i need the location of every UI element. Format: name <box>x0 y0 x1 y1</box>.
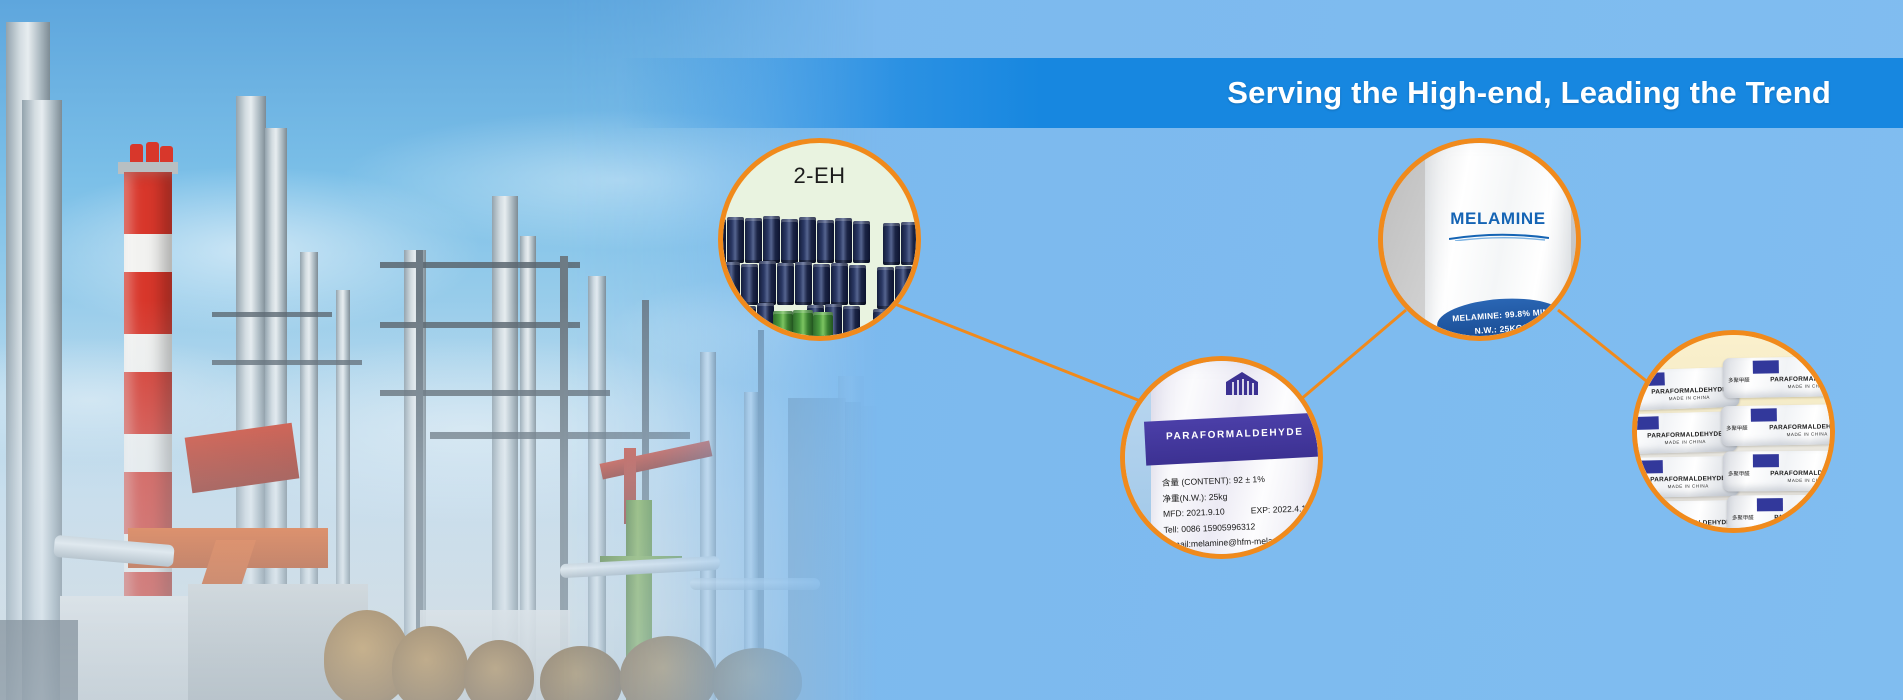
pfa-content-label: 含量 (CONTENT): <box>1162 475 1232 488</box>
bag-tag <box>1638 372 1664 386</box>
melamine-bag-image: MELAMINE MELAMINE: 99.8% MIN N.W.: 25KGS… <box>1383 143 1576 336</box>
stacked-bag-row: 多聚甲醛 PARAFORMALDEHYDE MADE IN CHINA <box>1727 494 1830 528</box>
product-bubble-melamine[interactable]: MELAMINE MELAMINE: 99.8% MIN N.W.: 25KGS… <box>1378 138 1581 341</box>
stacked-bag-row: 多聚甲醛 PARAFORMALDEHYDE MADE IN CHINA <box>1721 404 1830 446</box>
bag-name: PARAFORMALDEHYDE <box>1757 375 1830 384</box>
bag-name-cn: 多聚甲醛 <box>1726 424 1748 432</box>
connector-2eh-to-pfa <box>885 300 1143 402</box>
pfa-email-label: E-mail: <box>1164 539 1191 550</box>
banner-stage: Serving the High-end, Leading the Trend <box>0 0 1903 700</box>
pfa-mfd: MFD: 2021.9.10 <box>1163 504 1225 522</box>
stacked-bag-row: 多聚甲醛 PARAFORMALDEHYDE MADE IN CHINA <box>1723 356 1830 398</box>
pfa-tel-label: Tell: <box>1163 524 1179 535</box>
bag-tag <box>1637 460 1663 473</box>
swoosh-icon <box>1449 233 1549 241</box>
stacked-bag-row: 多聚甲醛 PARAFORMALDEHYDE MADE IN CHINA <box>1723 450 1830 491</box>
bag-origin: MADE IN CHINA <box>1757 383 1830 390</box>
pfa-product-name: PARAFORMALDEHYDE <box>1145 426 1318 443</box>
pfa-tel-value: 0086 15905996312 <box>1181 521 1255 534</box>
product-bubble-two-eh[interactable]: 2-EH <box>718 138 921 341</box>
pfa-bag-image: PARAFORMALDEHYDE 含量 (CONTENT): 92 ± 1% 净… <box>1125 361 1318 554</box>
bag-stack-image: 多聚甲醛 PARAFORMALDEHYDE MADE IN CHINA 多聚甲醛… <box>1637 335 1830 528</box>
bag-origin: MADE IN CHINA <box>1637 438 1733 446</box>
melamine-spec-oval: MELAMINE: 99.8% MIN N.W.: 25KGS <box>1436 295 1567 336</box>
pfa-spec-block: 含量 (CONTENT): 92 ± 1% 净重(N.W.): 25kg MFD… <box>1162 470 1313 553</box>
green-drum-3 <box>813 312 833 336</box>
bag-name: PARAFORMALDEHYDE <box>1755 423 1830 432</box>
bag-origin: MADE IN CHINA <box>1761 521 1830 527</box>
two-eh-image: 2-EH <box>723 143 916 336</box>
pfa-bag: PARAFORMALDEHYDE 含量 (CONTENT): 92 ± 1% 净… <box>1151 361 1318 554</box>
bag-origin: MADE IN CHINA <box>1755 431 1830 438</box>
two-eh-caption: 2-EH <box>723 163 916 189</box>
connector-lines <box>0 0 1903 700</box>
bag-name: PARAFORMALDEHYDE <box>1761 513 1830 521</box>
bag-tag <box>1753 360 1779 373</box>
product-bubble-paraformaldehyde-bag[interactable]: PARAFORMALDEHYDE 含量 (CONTENT): 92 ± 1% 净… <box>1120 356 1323 559</box>
pfa-purple-band: PARAFORMALDEHYDE <box>1144 412 1318 465</box>
bag-tag <box>1641 504 1667 517</box>
pfa-content-value: 92 ± 1% <box>1233 474 1265 485</box>
bag-tag <box>1757 498 1783 511</box>
bag-name: PARAFORMALDEHYDE <box>1757 469 1830 477</box>
melamine-bag: MELAMINE MELAMINE: 99.8% MIN N.W.: 25KGS… <box>1425 143 1571 336</box>
pfa-exp: EXP: 2022.4.10 <box>1250 501 1311 519</box>
bag-name-cn: 多聚甲醛 <box>1728 469 1750 477</box>
pfa-weight-label: 净重(N.W.): <box>1162 492 1206 504</box>
bag-tag <box>1751 408 1777 421</box>
company-logo-icon <box>1225 371 1259 397</box>
bag-tag <box>1637 416 1659 430</box>
bag-name-cn: 多聚甲醛 <box>1732 513 1754 521</box>
pfa-email-value: melamine@hfm-melamine.com <box>1191 534 1310 549</box>
bag-origin: MADE IN CHINA <box>1757 477 1830 483</box>
product-bubble-paraformaldehyde-stack[interactable]: 多聚甲醛 PARAFORMALDEHYDE MADE IN CHINA 多聚甲醛… <box>1632 330 1835 533</box>
pfa-weight-value: 25kg <box>1209 491 1228 502</box>
bag-tag <box>1753 454 1779 467</box>
bag-name-cn: 多聚甲醛 <box>1728 376 1750 384</box>
bag-origin: MADE IN CHINA <box>1641 483 1735 490</box>
green-drum-1 <box>773 311 793 336</box>
drum-stack <box>723 215 916 336</box>
bag-name-cn: 多聚甲醛 <box>1637 520 1638 528</box>
melamine-brand: MELAMINE <box>1425 209 1571 229</box>
green-drum-2 <box>793 310 813 336</box>
